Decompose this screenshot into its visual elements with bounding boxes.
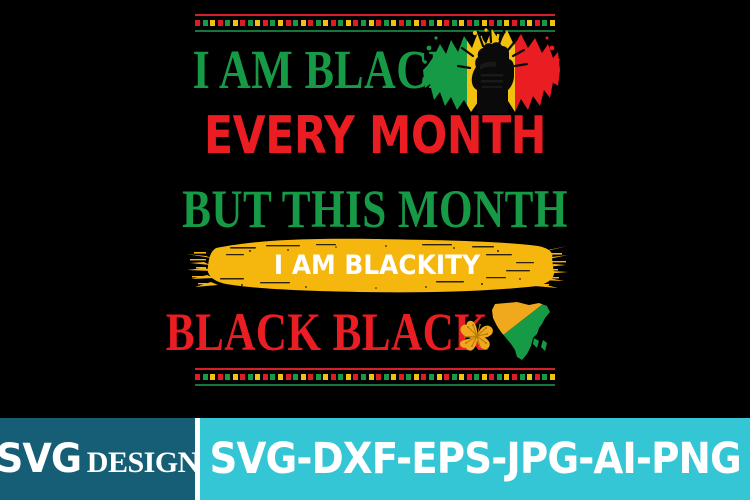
border-dot: [278, 20, 283, 26]
border-dot: [308, 374, 313, 380]
border-dot: [391, 374, 396, 380]
border-dot: [399, 374, 404, 380]
border-dot: [301, 20, 306, 26]
border-dot: [240, 374, 245, 380]
border-dot: [301, 374, 306, 380]
border-dot: [240, 20, 245, 26]
brand-primary-text: SVG: [0, 436, 81, 482]
border-dot: [406, 374, 411, 380]
border-dot: [263, 374, 268, 380]
border-dot: [248, 374, 253, 380]
design-canvas: I AM BLACK: [0, 0, 750, 500]
brand-logo-box[interactable]: SVG DESIGN: [0, 418, 195, 500]
headline-line-2-text: EVERY MONTH: [204, 106, 546, 166]
border-dot: [203, 374, 208, 380]
border-dot: [369, 374, 374, 380]
border-dot: [225, 20, 230, 26]
border-dot: [233, 20, 238, 26]
bottom-decorative-border: [195, 368, 555, 386]
border-dot: [527, 374, 532, 380]
border-dot: [195, 20, 200, 26]
border-dot: [489, 374, 494, 380]
brand-secondary-text: DESIGN: [87, 446, 195, 480]
border-dot: [248, 20, 253, 26]
border-dot: [391, 20, 396, 26]
border-dot: [203, 20, 208, 26]
border-dot: [399, 20, 404, 26]
border-dot: [331, 20, 336, 26]
raised-fist-icon: [420, 26, 562, 114]
brand-logo: SVG DESIGN: [0, 436, 195, 482]
headline-line-1: I AM BLACK: [75, 42, 675, 97]
border-dot: [218, 20, 223, 26]
border-dot: [338, 374, 343, 380]
file-formats-box[interactable]: SVG-DXF-EPS-JPG-AI-PNG: [200, 418, 750, 500]
border-dot: [376, 374, 381, 380]
border-dot: [444, 374, 449, 380]
border-dot: [270, 374, 275, 380]
border-bottom-green-line: [195, 384, 555, 386]
border-dot: [369, 20, 374, 26]
border-dot: [353, 374, 358, 380]
headline-line-3: BUT THIS MONTH: [75, 182, 675, 236]
border-dot: [504, 374, 509, 380]
border-dot: [384, 20, 389, 26]
border-dot: [384, 374, 389, 380]
border-bottom-red-line: [195, 368, 555, 370]
border-dot: [346, 20, 351, 26]
file-formats-text: SVG-DXF-EPS-JPG-AI-PNG: [209, 434, 740, 484]
border-dot: [467, 374, 472, 380]
border-dot: [542, 374, 547, 380]
border-top-red-line: [195, 14, 555, 16]
border-dot: [361, 20, 366, 26]
border-bottom-dot-row: [195, 373, 555, 381]
border-dot: [376, 20, 381, 26]
border-dot: [210, 20, 215, 26]
border-dot: [323, 20, 328, 26]
border-dot: [255, 374, 260, 380]
border-dot: [308, 20, 313, 26]
border-dot: [535, 374, 540, 380]
border-dot: [316, 20, 321, 26]
border-dot: [270, 20, 275, 26]
border-dot: [497, 374, 502, 380]
headline-line-5: BLACK BLACK: [75, 305, 675, 359]
border-dot: [255, 20, 260, 26]
border-dot: [421, 374, 426, 380]
headline-line-5-text: BLACK BLACK: [166, 305, 488, 359]
border-dot: [338, 20, 343, 26]
border-dot: [429, 374, 434, 380]
border-dot: [210, 374, 215, 380]
border-dot: [225, 374, 230, 380]
border-dot: [414, 374, 419, 380]
border-dot: [218, 374, 223, 380]
africa-map-icon: [487, 300, 559, 362]
headline-line-2: EVERY MONTH: [68, 110, 683, 162]
border-dot: [331, 374, 336, 380]
promo-bar: SVG DESIGN SVG-DXF-EPS-JPG-AI-PNG: [0, 418, 750, 500]
border-dot: [293, 374, 298, 380]
border-dot: [437, 374, 442, 380]
brush-banner: I AM BLACKITY: [186, 234, 568, 296]
border-dot: [512, 374, 517, 380]
border-dot: [452, 374, 457, 380]
border-dot: [233, 374, 238, 380]
border-dot: [550, 374, 555, 380]
border-dot: [323, 374, 328, 380]
artboard: I AM BLACK: [0, 0, 750, 418]
border-dot: [520, 374, 525, 380]
border-dot: [353, 20, 358, 26]
border-dot: [195, 374, 200, 380]
border-dot: [278, 374, 283, 380]
border-dot: [316, 374, 321, 380]
border-dot: [406, 20, 411, 26]
border-dot: [482, 374, 487, 380]
border-dot: [414, 20, 419, 26]
border-dot: [293, 20, 298, 26]
border-dot: [474, 374, 479, 380]
border-dot: [286, 374, 291, 380]
border-dot: [346, 374, 351, 380]
border-dot: [361, 374, 366, 380]
headline-line-3-text: BUT THIS MONTH: [182, 179, 568, 239]
border-dot: [459, 374, 464, 380]
banner-label: I AM BLACKITY: [201, 250, 552, 281]
border-dot: [286, 20, 291, 26]
border-dot: [263, 20, 268, 26]
